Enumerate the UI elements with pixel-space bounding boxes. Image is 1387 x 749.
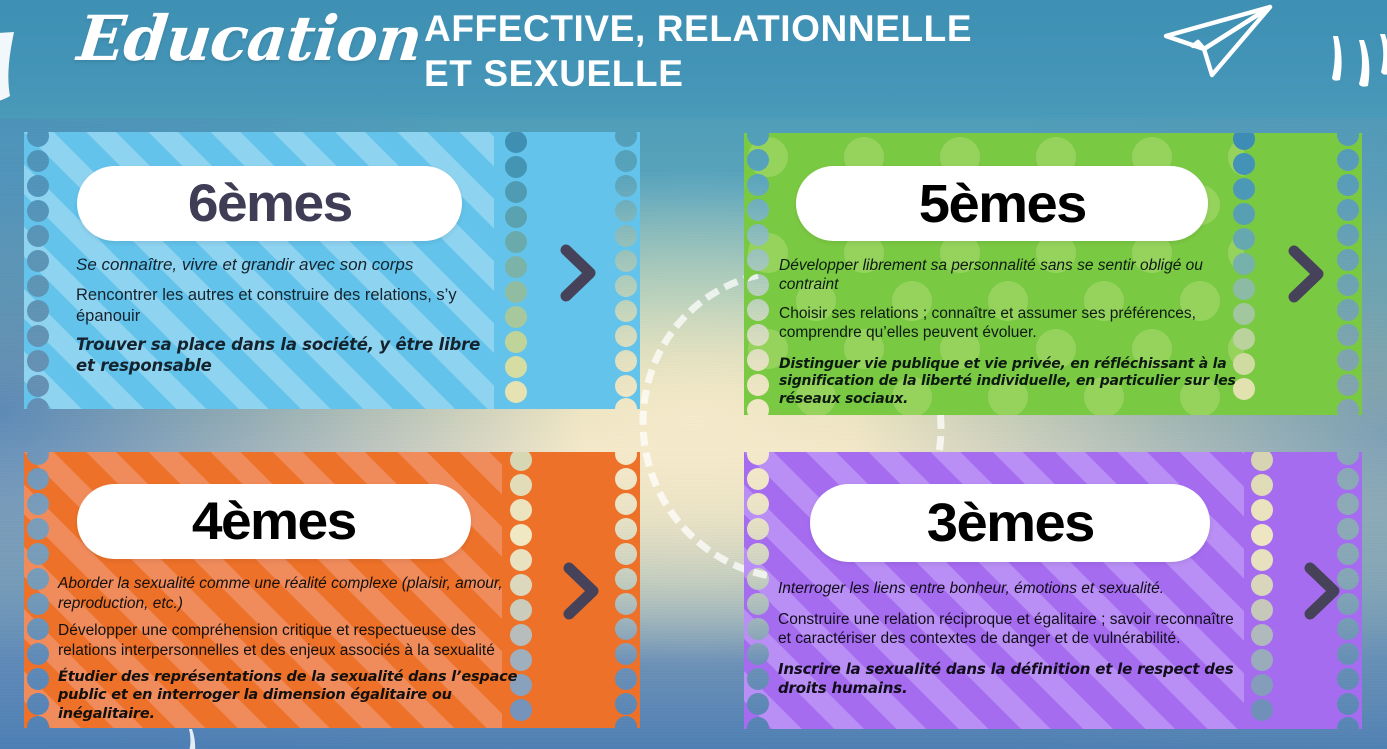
objective-1: Interroger les liens entre bonheur, émot… [778, 579, 1248, 599]
objective-3: Inscrire la sexualité dans la définition… [778, 660, 1248, 698]
level-badge: 3èmes [810, 484, 1210, 562]
tick-decoration [185, 728, 203, 749]
objective-1: Aborder la sexualité comme une réalité c… [58, 574, 528, 613]
objective-2: Choisir ses relations ; connaître et ass… [779, 304, 1249, 343]
chevron-right-icon[interactable] [1300, 562, 1346, 620]
card-objectives: Développer librement sa personnalité san… [779, 256, 1249, 409]
level-label: 4èmes [192, 491, 356, 552]
objective-3: Trouver sa place dans la société, y être… [76, 335, 496, 377]
card-objectives: Se connaître, vivre et grandir avec son … [76, 254, 496, 377]
level-badge: 4èmes [77, 484, 471, 559]
level-label: 5èmes [918, 173, 1085, 235]
page-title-line1: AFFECTIVE, RELATIONNELLE [424, 6, 972, 51]
card-objectives: Interroger les liens entre bonheur, émot… [778, 579, 1248, 698]
perforation-dots [505, 132, 527, 403]
chevron-right-icon[interactable] [556, 244, 602, 302]
objective-2: Développer une compréhension critique et… [58, 621, 528, 660]
page-header: Education AFFECTIVE, RELATIONNELLE ET SE… [0, 0, 1387, 118]
objective-1: Développer librement sa personnalité san… [779, 256, 1249, 295]
chevron-right-icon[interactable] [559, 562, 605, 620]
objective-3: Distinguer vie publique et vie privée, e… [779, 356, 1249, 410]
level-label: 6èmes [188, 173, 352, 234]
perforation-dots [1251, 452, 1273, 721]
card-6emes[interactable]: 6èmes Se connaître, vivre et grandir ave… [24, 132, 640, 409]
chevron-right-icon[interactable] [1284, 245, 1330, 303]
objective-2: Rencontrer les autres et construire des … [76, 285, 496, 327]
level-badge: 6èmes [77, 166, 462, 241]
level-badge: 5èmes [796, 166, 1208, 241]
card-objectives: Aborder la sexualité comme une réalité c… [58, 574, 528, 723]
card-3emes[interactable]: 3èmes Interroger les liens entre bonheur… [744, 452, 1362, 729]
level-label: 3èmes [926, 492, 1093, 554]
card-5emes[interactable]: 5èmes Développer librement sa personnali… [744, 133, 1362, 415]
brand-title: Education [74, 2, 425, 75]
objective-3: Étudier des représentations de la sexual… [58, 668, 528, 723]
objective-2: Construire une relation réciproque et ég… [778, 610, 1248, 649]
page-title: AFFECTIVE, RELATIONNELLE ET SEXUELLE [424, 6, 972, 96]
page-title-line2: ET SEXUELLE [424, 51, 972, 96]
objective-1: Se connaître, vivre et grandir avec son … [76, 254, 496, 276]
card-4emes[interactable]: 4èmes Aborder la sexualité comme une réa… [24, 452, 640, 728]
